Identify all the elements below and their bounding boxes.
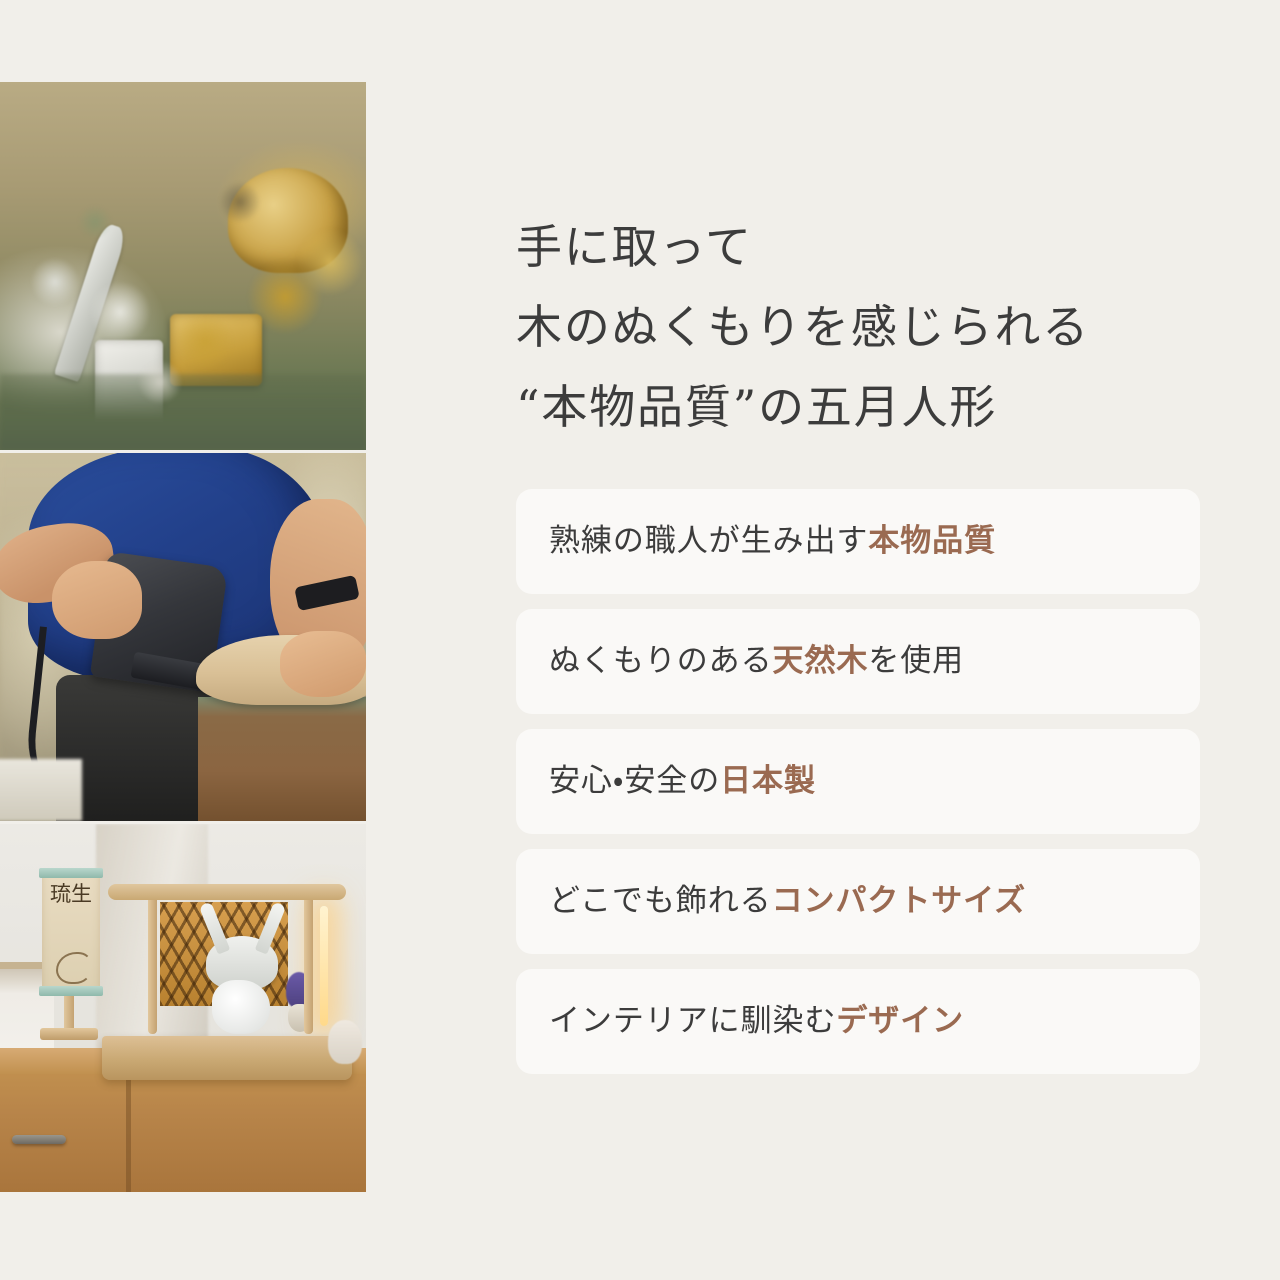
display-case-photo-image: 琉生 <box>0 824 366 1192</box>
scroll-name-text: 琉生 <box>42 882 100 906</box>
decor-figure <box>328 1020 362 1064</box>
headline-line-2: 木のぬくもりを感じられる <box>516 287 1200 367</box>
blade-detail <box>54 222 128 382</box>
feature-text-1: 熟練の職人が生み出す本物品質 <box>549 522 996 561</box>
feature-text-2: ぬくもりのある天然木を使用 <box>549 642 964 681</box>
name-flag-scroll: 琉生 <box>42 860 100 1032</box>
storage-crate <box>0 759 82 821</box>
silver-ornament-detail <box>95 340 163 426</box>
drawer-divider <box>126 1076 131 1192</box>
feature-suffix-2: を使用 <box>868 643 964 679</box>
feature-accent-1: 本物品質 <box>868 523 996 559</box>
case-post-right <box>304 894 313 1034</box>
feature-text-3: 安心・安全の日本製 <box>549 762 816 801</box>
feature-prefix-1: 熟練の職人が生み出す <box>549 523 868 559</box>
feature-text-4: どこでも飾れるコンパクトサイズ <box>549 882 1026 921</box>
feature-accent-5: デザイン <box>836 1003 964 1039</box>
feature-text-5: インテリアに馴染むデザイン <box>549 1002 964 1041</box>
scroll-bar-top <box>39 868 103 878</box>
feature-prefix-2: ぬくもりのある <box>549 643 773 679</box>
case-post-left <box>148 894 157 1034</box>
workbench-surface <box>0 374 366 450</box>
craftsman-sanding-photo-image <box>0 453 366 821</box>
feature-card-1: 熟練の職人が生み出す本物品質 <box>516 489 1200 594</box>
feature-prefix-4: どこでも飾れる <box>549 883 772 919</box>
right-hand <box>280 631 366 697</box>
feature-list: 熟練の職人が生み出す本物品質 ぬくもりのある天然木を使用 安心・安全の日本製 ど… <box>516 489 1200 1074</box>
landing-page-root: 琉生 <box>0 0 1280 1280</box>
scroll-bar-bottom <box>39 986 103 996</box>
feature-card-5: インテリアに馴染むデザイン <box>516 969 1200 1074</box>
feature-accent-4: コンパクトサイズ <box>772 883 1027 919</box>
feature-card-4: どこでも飾れるコンパクトサイズ <box>516 849 1200 954</box>
photo-column: 琉生 <box>0 82 366 1193</box>
case-top-rail <box>108 884 346 900</box>
work-table <box>198 697 366 821</box>
kabuto-tassel <box>212 980 270 1034</box>
feature-prefix-3: 安心・安全の <box>549 763 720 799</box>
snake-illustration <box>56 952 92 984</box>
feature-accent-2: 天然木 <box>773 643 869 679</box>
display-case-photo: 琉生 <box>0 824 366 1192</box>
feature-prefix-5: インテリアに馴染む <box>549 1003 836 1039</box>
case-base <box>102 1036 352 1080</box>
craftsman-sanding-photo <box>0 453 366 821</box>
feature-card-2: ぬくもりのある天然木を使用 <box>516 609 1200 714</box>
scroll-foot <box>40 1028 98 1040</box>
case-light <box>320 906 328 1026</box>
headline-line-1: 手に取って <box>516 207 1200 287</box>
wooden-display-case <box>108 884 352 1074</box>
page-title: 手に取って 木のぬくもりを感じられる “本物品質”の五月人形 <box>516 207 1200 447</box>
gold-ornament-detail <box>170 314 262 386</box>
headline-line-3: “本物品質”の五月人形 <box>516 367 1200 447</box>
drawer-handle <box>12 1135 66 1144</box>
gold-crest-detail <box>228 168 348 273</box>
left-hand <box>52 561 142 639</box>
armor-parts-photo <box>0 82 366 450</box>
armor-parts-photo-image <box>0 82 366 450</box>
content-column: 手に取って 木のぬくもりを感じられる “本物品質”の五月人形 熟練の職人が生み出… <box>516 0 1200 1280</box>
feature-card-3: 安心・安全の日本製 <box>516 729 1200 834</box>
feature-accent-3: 日本製 <box>720 763 816 799</box>
